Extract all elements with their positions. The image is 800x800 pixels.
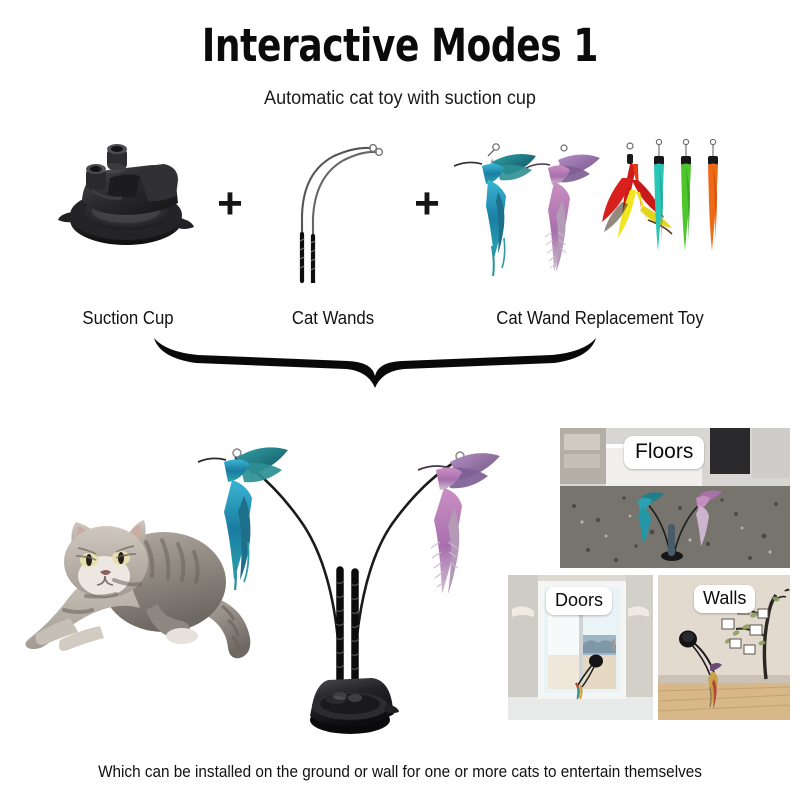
assembled-product [140,420,540,740]
component-replacement-toys [452,136,742,291]
component-label-cat-wands: Cat Wands [249,308,416,329]
doors-photo: Doors [508,575,653,720]
scene-badge-doors: Doors [546,587,612,615]
suction-cup-icon [52,138,202,263]
page-subtitle: Automatic cat toy with suction cup [20,88,780,110]
component-suction-cup [52,138,202,263]
page-title: Interactive Modes 1 [80,22,720,69]
walls-photo: Walls [658,575,790,720]
feather-toys-icon [452,136,742,291]
orange-feather-toy [708,139,718,251]
component-cat-wands [272,138,402,283]
footer-caption: Which can be installed on the ground or … [40,762,760,782]
plus-operator-2: + [409,182,445,226]
plus-operator-1: + [212,182,248,226]
component-label-suction-cup: Suction Cup [44,308,211,329]
purple-hummingbird-toy [526,145,600,272]
component-label-replacement-toy: Cat Wand Replacement Toy [465,308,735,329]
scene-badge-walls: Walls [694,585,755,613]
scene-badge-floors: Floors [624,436,704,469]
cat-wand-icon [272,138,402,283]
turquoise-feather-toy [654,139,664,251]
right-purple-bird [418,452,500,594]
brace-connector [150,336,600,392]
suction-cup-base [310,678,399,734]
teal-hummingbird-toy [454,144,536,276]
left-teal-bird [198,447,288,590]
green-feather-toy [681,139,691,251]
infographic-canvas: Interactive Modes 1 Automatic cat toy wi… [0,0,800,800]
floors-photo: Floors [560,428,790,568]
